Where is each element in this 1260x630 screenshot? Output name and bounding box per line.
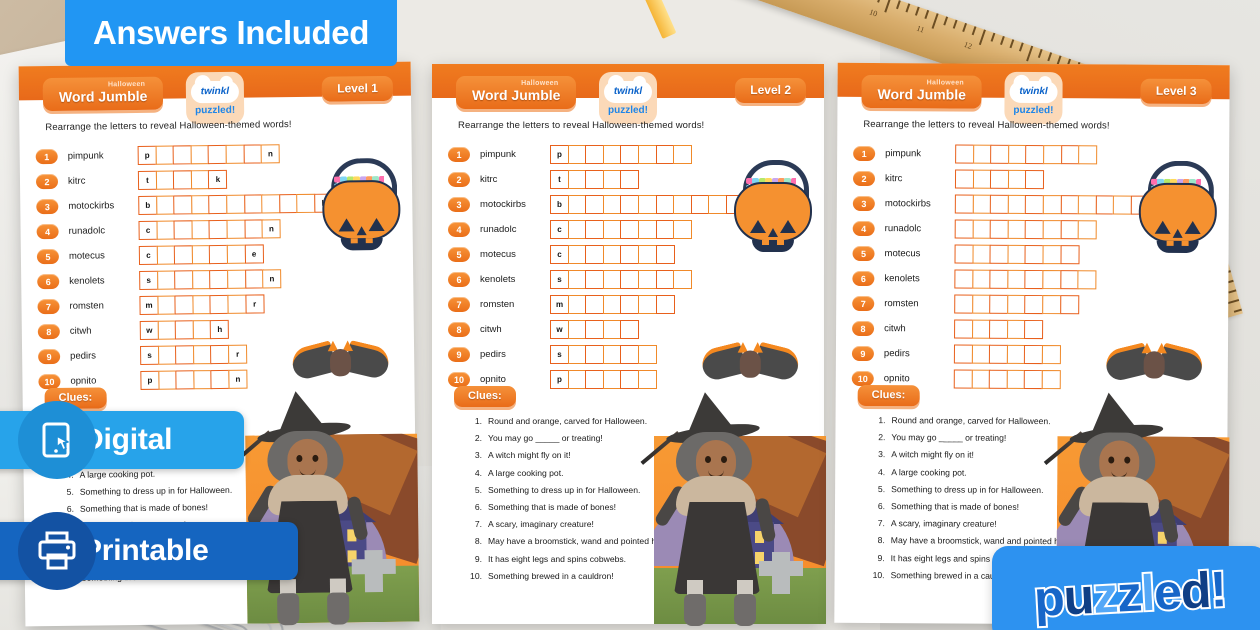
row-number-badge: 8 [448,322,470,337]
letter-cell[interactable] [620,345,639,364]
letter-cell[interactable] [585,270,604,289]
answers-included-label: Answers Included [93,14,369,52]
letter-cell[interactable] [691,195,710,214]
letter-cell[interactable] [638,245,657,264]
letter-cell[interactable] [157,271,176,290]
letter-cell[interactable] [1042,270,1061,289]
worksheet-title-badge: Halloween Word Jumble [43,77,164,111]
ruler-tick [1047,52,1051,61]
jumble-row: 5 motecus ce [37,241,333,270]
ruler-number: 12 [963,40,973,51]
letter-cell[interactable]: s [550,345,569,364]
jumble-row: 2 kitrc t [448,167,744,192]
letter-cell[interactable] [193,320,212,339]
letter-cell[interactable] [210,295,229,314]
letter-cell[interactable] [1026,145,1045,164]
letter-cell[interactable] [173,195,192,214]
letter-cell[interactable] [568,270,587,289]
letter-cell[interactable] [603,320,622,339]
letter-cell[interactable] [972,320,991,339]
letter-cell[interactable] [227,295,246,314]
letter-cell[interactable] [603,345,622,364]
puzzled-letter: p [1033,570,1065,627]
letter-cell[interactable] [620,270,639,289]
letter-cell[interactable] [585,345,604,364]
row-number-badge: 4 [853,221,875,236]
letter-cell[interactable] [192,245,211,264]
letter-cell[interactable] [673,145,692,164]
letter-cell[interactable] [156,196,175,215]
letter-cell[interactable] [990,170,1009,189]
jumble-row: 3 motockirbs [853,191,1149,218]
printable-label: Printable [82,534,209,568]
letter-cell[interactable] [989,295,1008,314]
witch-eye-left [296,455,302,462]
worksheet-page-2[interactable]: Halloween Word Jumble twinkl puzzled! Le… [432,64,824,624]
letter-cell[interactable] [1008,170,1027,189]
letter-cell[interactable] [1007,295,1026,314]
letter-cell[interactable] [1025,245,1044,264]
letter-cell[interactable] [568,170,587,189]
letter-cell[interactable] [638,220,657,239]
pumpkin-bucket-illustration [732,160,810,238]
letter-cell[interactable] [973,170,992,189]
witch-eye-right [721,456,727,463]
letter-cell[interactable] [972,220,991,239]
letter-cell[interactable]: m [550,295,569,314]
letter-cell[interactable] [1060,295,1079,314]
ruler-tick [1009,39,1013,48]
row-number-badge: 6 [852,271,874,286]
letter-cell[interactable] [1024,345,1043,364]
clue-text: A witch might fly on it! [488,450,571,460]
letter-cell[interactable] [620,320,639,339]
letter-cell[interactable] [158,371,177,390]
letter-cell[interactable] [972,270,991,289]
letter-cell[interactable] [955,145,974,164]
jumbled-word: motecus [480,249,546,260]
letter-cell[interactable] [193,370,212,389]
letter-cell[interactable] [1025,270,1044,289]
jumbled-word: kitrc [885,173,951,184]
letter-cell[interactable]: c [138,221,157,240]
row-number-badge: 5 [853,246,875,261]
clue-number: 9. [865,552,891,562]
jumbled-word: motockirbs [68,200,134,212]
letter-cell[interactable] [990,195,1009,214]
jumbled-word: kitrc [68,175,134,187]
letter-cell[interactable]: c [550,220,569,239]
letter-cell[interactable] [1007,245,1026,264]
letter-cell[interactable] [244,219,263,238]
letter-cell[interactable] [656,145,675,164]
letter-cell[interactable] [954,270,973,289]
letter-cell[interactable]: w [550,320,569,339]
letter-cell[interactable] [585,245,604,264]
answer-grid: s [550,270,691,289]
letter-cell[interactable] [972,195,991,214]
letter-cell[interactable]: r [228,345,247,364]
letter-cell[interactable]: c [139,246,158,265]
letter-cell[interactable] [156,221,175,240]
letter-cell[interactable]: s [139,271,158,290]
letter-cell[interactable]: k [208,170,227,189]
letter-cell[interactable] [244,194,263,213]
letter-cell[interactable] [209,245,228,264]
letter-cell[interactable] [568,195,587,214]
pumpkin-nose [357,226,367,235]
letter-cell[interactable] [990,145,1009,164]
row-number-badge: 2 [448,172,470,187]
letter-cell[interactable] [638,345,657,364]
letter-cell[interactable] [1060,195,1079,214]
jumbled-word: opnito [70,375,136,387]
letter-cell[interactable] [673,195,692,214]
letter-cell[interactable] [568,295,587,314]
letter-cell[interactable]: p [140,371,159,390]
letter-cell[interactable] [1078,145,1097,164]
logo-puzzled-text: puzzled! [1013,104,1053,115]
letter-cell[interactable]: p [550,145,569,164]
letter-cell[interactable] [972,295,991,314]
letter-cell[interactable] [955,195,974,214]
pumpkin-nose [768,228,778,237]
letter-cell[interactable] [656,220,675,239]
letter-cell[interactable] [1060,220,1079,239]
letter-cell[interactable] [174,245,193,264]
letter-cell[interactable] [585,145,604,164]
letter-cell[interactable] [1042,295,1061,314]
letter-cell[interactable] [1060,245,1079,264]
letter-cell[interactable] [638,370,657,389]
row-number-badge: 1 [448,147,470,162]
letter-cell[interactable] [226,195,245,214]
letter-cell[interactable] [1078,270,1097,289]
ruler-number: 10 [868,7,878,18]
jumbled-word: motecus [885,248,951,259]
letter-cell[interactable] [708,195,727,214]
letter-cell[interactable] [245,269,264,288]
witch-eye-right [312,455,318,462]
letter-cell[interactable] [603,370,622,389]
letter-cell[interactable]: t [138,171,157,190]
answer-grid: cn [138,219,279,240]
letter-cell[interactable] [157,296,176,315]
letter-cell[interactable] [971,345,990,364]
puzzled-letter: z [1116,565,1143,622]
pumpkin-eye-left [750,220,766,233]
letter-cell[interactable]: n [262,219,281,238]
letter-cell[interactable]: c [550,245,569,264]
letter-cell[interactable] [158,346,177,365]
letter-cell[interactable] [1096,195,1115,214]
row-number-badge: 7 [37,299,59,314]
letter-cell[interactable] [638,295,657,314]
letter-cell[interactable] [157,321,176,340]
letter-cell[interactable]: s [550,270,569,289]
letter-cell[interactable] [1025,170,1044,189]
letter-cell[interactable] [568,145,587,164]
letter-cell[interactable] [990,245,1009,264]
letter-cell[interactable] [173,170,192,189]
letter-cell[interactable] [261,194,280,213]
clue-number: 10. [865,570,891,580]
answer-grid [955,195,1149,215]
letter-cell[interactable] [227,245,246,264]
letter-cell[interactable] [209,195,228,214]
jumble-row: 6 kenolets sn [37,266,333,295]
letter-cell[interactable] [227,270,246,289]
letter-cell[interactable] [1043,145,1062,164]
worksheet-page-3[interactable]: Halloween Word Jumble twinkl puzzled! Le… [834,63,1229,625]
letter-cell[interactable] [620,170,639,189]
letter-cell[interactable] [955,220,974,239]
clue-number: 2. [865,432,891,442]
letter-cell[interactable] [1060,270,1079,289]
letter-cell[interactable] [192,295,211,314]
letter-cell[interactable] [568,345,587,364]
title-main-label: Word Jumble [472,88,560,103]
jumbled-word: pimpunk [885,148,951,159]
letter-cell[interactable] [1024,370,1043,389]
letter-cell[interactable] [620,245,639,264]
letter-cell[interactable] [173,145,192,164]
title-main-label: Word Jumble [877,87,966,103]
letter-cell[interactable] [603,220,622,239]
jumble-row: 9 pedirs [852,341,1148,368]
letter-cell[interactable] [585,220,604,239]
letter-cell[interactable] [279,194,298,213]
letter-cell[interactable] [1043,195,1062,214]
letter-cell[interactable] [175,320,194,339]
letter-cell[interactable] [603,245,622,264]
letter-cell[interactable] [175,345,194,364]
letter-cell[interactable] [954,245,973,264]
letter-cell[interactable] [954,345,973,364]
letter-cell[interactable] [620,145,639,164]
letter-cell[interactable] [297,194,316,213]
letter-cell[interactable] [989,345,1008,364]
letter-cell[interactable] [1042,370,1061,389]
letter-cell[interactable]: r [245,294,264,313]
answer-grid: b [550,195,744,214]
letter-cell[interactable] [226,145,245,164]
letter-cell[interactable] [1008,145,1027,164]
letter-cell[interactable] [568,245,587,264]
letter-cell[interactable] [1042,345,1061,364]
clue-text: Something to dress up in for Halloween. [80,485,233,497]
letter-cell[interactable]: w [140,321,159,340]
letter-cell[interactable]: n [228,370,247,389]
letter-cell[interactable] [1007,220,1026,239]
letter-cell[interactable] [585,320,604,339]
letter-cell[interactable] [1007,345,1026,364]
answer-grid: m [550,295,673,314]
letter-cell[interactable]: b [138,196,157,215]
logo-puzzled-text: puzzled! [195,104,235,115]
answer-grid: pn [138,144,279,165]
twinkl-puzzled-logo: twinkl puzzled! [599,72,657,124]
letter-cell[interactable] [656,295,675,314]
puzzled-letter: d [1179,562,1211,619]
letter-cell[interactable] [585,295,604,314]
ruler-tick [905,3,909,12]
letter-cell[interactable] [193,345,212,364]
witch-illustration [658,402,778,622]
jumble-row: 1 pimpunk pn [36,141,332,170]
letter-cell[interactable] [192,270,211,289]
letter-cell[interactable] [227,220,246,239]
letter-cell[interactable] [1025,195,1044,214]
jumbled-word: kenolets [884,273,950,284]
letter-cell[interactable] [989,370,1008,389]
row-number-badge: 3 [853,196,875,211]
letter-cell[interactable]: b [550,195,569,214]
letter-cell[interactable] [176,370,195,389]
letter-cell[interactable] [673,220,692,239]
letter-cell[interactable] [210,270,229,289]
letter-cell[interactable] [155,146,174,165]
letter-cell[interactable] [208,145,227,164]
answer-grid [954,270,1095,290]
letter-cell[interactable] [1025,295,1044,314]
letter-cell[interactable]: h [210,320,229,339]
letter-cell[interactable]: p [550,370,569,389]
clue-text: A witch might fly on it! [891,450,974,461]
letter-cell[interactable] [603,295,622,314]
letter-cell[interactable] [620,195,639,214]
answer-grid [954,245,1077,265]
letter-cell[interactable]: s [140,346,159,365]
letter-cell[interactable] [211,370,230,389]
twinkl-puzzled-logo: twinkl puzzled! [1004,72,1062,124]
letter-cell[interactable] [638,270,657,289]
ruler-tick [972,26,976,35]
letter-cell[interactable] [568,370,587,389]
letter-cell[interactable] [971,370,990,389]
letter-cell[interactable] [954,295,973,314]
letter-cell[interactable]: n [262,269,281,288]
letter-cell[interactable] [1113,195,1132,214]
letter-cell[interactable] [1043,245,1062,264]
letter-cell[interactable] [638,195,657,214]
letter-cell[interactable] [209,220,228,239]
letter-cell[interactable] [174,220,193,239]
twinkl-puzzled-logo: twinkl puzzled! [186,72,245,125]
answer-grid: mr [139,294,262,315]
letter-cell[interactable] [1007,270,1026,289]
letter-cell[interactable] [585,170,604,189]
jumble-row: 3 motockirbs b [448,192,744,217]
letter-cell[interactable] [585,370,604,389]
letter-cell[interactable] [175,295,194,314]
letter-cell[interactable] [673,270,692,289]
letter-cell[interactable] [155,171,174,190]
clue-text: A scary, imaginary creature! [891,518,997,529]
letter-cell[interactable] [954,370,973,389]
letter-cell[interactable] [955,170,974,189]
letter-cell[interactable] [989,320,1008,339]
letter-cell[interactable] [656,270,675,289]
letter-cell[interactable] [568,220,587,239]
letter-cell[interactable] [1061,145,1080,164]
letter-cell[interactable] [620,295,639,314]
letter-cell[interactable] [210,345,229,364]
answer-grid: bk [138,194,332,215]
letter-cell[interactable] [1024,320,1043,339]
letter-cell[interactable] [1025,220,1044,239]
letter-cell[interactable] [1007,320,1026,339]
witch-boot-left [277,593,299,625]
letter-cell[interactable] [638,145,657,164]
letter-cell[interactable] [620,370,639,389]
letter-cell[interactable]: e [244,244,263,263]
letter-cell[interactable] [954,320,973,339]
clue-text: Something to dress up in for Halloween. [488,485,640,495]
letter-cell[interactable] [990,220,1009,239]
letter-cell[interactable] [603,195,622,214]
letter-cell[interactable] [1007,370,1026,389]
letter-cell[interactable]: n [261,144,280,163]
answer-grid [955,170,1043,190]
letter-cell[interactable] [156,246,175,265]
clue-text: A large cooking pot. [891,467,967,477]
screenshot-stage: 89101112 Halloween Word Jumble twinkl pu… [0,0,1260,630]
clues-heading-badge: Clues: [858,385,920,406]
worksheet-title-badge: Halloween Word Jumble [861,75,982,109]
letter-cell[interactable] [191,170,210,189]
pumpkin-eye-right [780,220,796,233]
jumble-rows: 1 pimpunk pn 2 kitrc tk 3 motockirbs bk … [36,141,335,395]
letter-cell[interactable] [972,245,991,264]
puzzled-letter: ! [1209,561,1228,618]
letter-cell[interactable] [174,270,193,289]
letter-cell[interactable] [1078,220,1097,239]
letter-cell[interactable] [656,245,675,264]
letter-cell[interactable] [243,144,262,163]
printer-icon [18,512,96,590]
letter-cell[interactable]: t [550,170,569,189]
jumble-row: 7 romsten mr [37,291,333,320]
letter-cell[interactable] [191,220,210,239]
letter-cell[interactable] [191,195,210,214]
logo-cloud-shape: twinkl [191,80,239,103]
letter-cell[interactable] [568,320,587,339]
letter-cell[interactable] [973,145,992,164]
clue-text: Something brewed in a cauldron! [488,571,614,581]
letter-cell[interactable] [990,270,1009,289]
letter-cell[interactable] [603,270,622,289]
logo-cloud-shape: twinkl [604,81,652,103]
letter-cell[interactable] [585,195,604,214]
letter-cell[interactable] [1043,220,1062,239]
letter-cell[interactable] [603,170,622,189]
letter-cell[interactable]: p [138,146,157,165]
pumpkin-body [322,180,401,241]
letter-cell[interactable] [620,220,639,239]
letter-cell[interactable] [656,195,675,214]
letter-cell[interactable] [1078,195,1097,214]
jumbled-word: citwh [884,323,950,334]
letter-cell[interactable]: m [139,296,158,315]
pumpkin-bucket-illustration [320,158,399,237]
letter-cell[interactable] [190,145,209,164]
jumble-row: 3 motockirbs bk [36,191,332,220]
jumble-row: 6 kenolets [852,266,1148,293]
letter-cell[interactable] [603,145,622,164]
letter-cell[interactable] [1008,195,1027,214]
clue-number: 4. [865,467,891,477]
